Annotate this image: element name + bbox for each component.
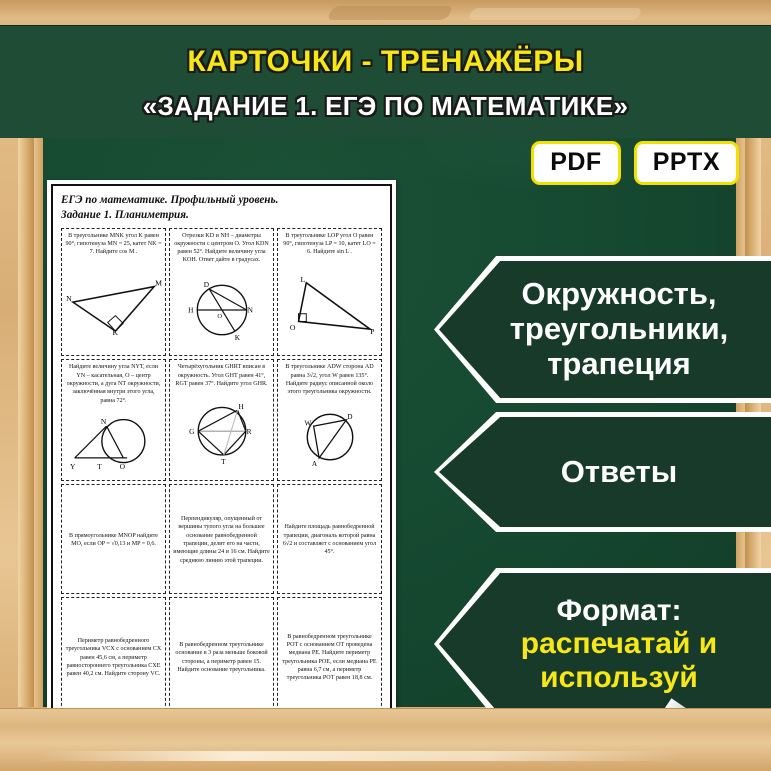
task-card[interactable]: В прямоугольнике MNOP найдите MO, если O… (61, 484, 166, 595)
task-card-text: В треугольнике LOP угол O равен 90°, гип… (281, 232, 378, 257)
svg-text:W: W (304, 419, 311, 427)
task-card[interactable]: В треугольнике LOP угол O равен 90°, гип… (277, 228, 382, 357)
svg-text:N: N (100, 417, 106, 426)
task-card[interactable]: Найдите величину угла NYT, если YN – кас… (61, 359, 166, 480)
worksheet-heading-line2: Задание 1. Планиметрия. (61, 208, 382, 223)
figure-right-triangle-lop: L O P (281, 256, 378, 354)
banner-answers-body: Ответы (439, 417, 771, 527)
banner-topics-text: Окружность, треугольники, трапеция (484, 277, 735, 381)
svg-text:K: K (234, 333, 240, 342)
format-badges: PDF PPTX (531, 141, 739, 185)
banner-answers[interactable]: Ответы (434, 412, 771, 532)
task-card-text: Найдите площадь равнобедренной трапеции,… (281, 523, 378, 556)
task-card[interactable]: Четырёхугольник GHRT вписан в окружность… (169, 359, 274, 480)
page-title-line2: «ЗАДАНИЕ 1. ЕГЭ ПО МАТЕМАТИКЕ» (0, 77, 771, 119)
page-title-line1: КАРТОЧКИ - ТРЕНАЖЁРЫ (0, 25, 771, 77)
task-card-text: В прямоугольнике MNOP найдите MO, если O… (65, 532, 162, 549)
svg-text:H: H (188, 305, 194, 314)
title-banner: КАРТОЧКИ - ТРЕНАЖЁРЫ «ЗАДАНИЕ 1. ЕГЭ ПО … (0, 25, 771, 138)
chalk-tray-highlight (38, 751, 681, 761)
task-card-text: В треугольнике ADW сторона AD равна 3√2,… (281, 363, 378, 396)
task-card-text: Периметр равнобедренного треугольника VC… (65, 637, 162, 678)
task-card[interactable]: В треугольнике MNK угол K равен 90°, гип… (61, 228, 166, 357)
svg-text:N: N (66, 295, 72, 304)
svg-text:T: T (221, 458, 226, 466)
svg-text:O: O (217, 313, 222, 320)
banner-format-text: Формат: распечатай и используй (495, 594, 723, 695)
worksheet-page: ЕГЭ по математике. Профильный уровень. З… (51, 184, 392, 724)
task-card[interactable]: Отрезки KD и NH – диаметры окружности с … (169, 228, 274, 357)
figure-circle-diameters-kdnh: D H N K O (173, 265, 270, 355)
banner-format[interactable]: Формат: распечатай и используй (434, 568, 771, 720)
svg-text:Y: Y (70, 462, 76, 471)
svg-text:D: D (203, 280, 208, 289)
svg-text:L: L (300, 275, 305, 284)
task-card[interactable]: В треугольнике ADW сторона AD равна 3√2,… (277, 359, 382, 480)
svg-text:H: H (238, 403, 244, 412)
svg-text:O: O (290, 324, 296, 333)
banner-format-line2: распечатай и (521, 627, 717, 661)
banner-format-line3: используй (521, 661, 717, 695)
banner-answers-line1: Ответы (561, 455, 677, 490)
task-card[interactable]: Перпендикуляр, опущенный от вершины тупо… (169, 484, 274, 595)
figure-right-triangle-mnk: N M K (65, 256, 162, 354)
task-card-text: В равнобедренном треугольнике POT с осно… (281, 633, 378, 683)
svg-text:M: M (155, 279, 162, 288)
banner-topics[interactable]: Окружность, треугольники, трапеция (434, 256, 771, 403)
task-card-text: Отрезки KD и NH – диаметры окружности с … (173, 232, 270, 265)
banner-topics-body: Окружность, треугольники, трапеция (439, 261, 771, 398)
wood-grain-streak-1 (326, 6, 453, 20)
banner-answers-text: Ответы (535, 455, 683, 490)
banner-topics-line1: Окружность, (510, 277, 729, 312)
badge-pdf[interactable]: PDF (531, 141, 621, 185)
worksheet-heading-line1: ЕГЭ по математике. Профильный уровень. (61, 193, 382, 208)
task-card-text: Четырёхугольник GHRT вписан в окружность… (173, 363, 270, 388)
badge-pptx[interactable]: PPTX (634, 141, 739, 185)
figure-tangent-circle-nyt: N Y T O (65, 405, 162, 479)
svg-text:A: A (311, 460, 317, 468)
task-card[interactable]: Найдите площадь равнобедренной трапеции,… (277, 484, 382, 595)
svg-text:O: O (119, 462, 125, 471)
svg-text:G: G (189, 427, 195, 436)
task-card-text: В треугольнике MNK угол K равен 90°, гип… (65, 232, 162, 257)
figure-inscribed-quad-ghrt: H G R T (173, 388, 270, 478)
wood-grain-streak-2 (467, 8, 643, 20)
svg-text:P: P (370, 327, 374, 335)
chalk-tray (0, 709, 771, 771)
worksheet-preview[interactable]: ЕГЭ по математике. Профильный уровень. З… (47, 180, 396, 728)
banner-topics-line2: треугольники, (510, 312, 729, 347)
figure-circumscribed-adw: W D A (281, 397, 378, 479)
task-card[interactable]: В равнобедренном треугольнике POT с осно… (277, 597, 382, 716)
task-card-text: Найдите величину угла NYT, если YN – кас… (65, 363, 162, 404)
banner-format-line1: Формат: (521, 594, 717, 628)
svg-text:T: T (97, 462, 102, 471)
banner-topics-line3: трапеция (510, 347, 729, 382)
task-card-text: Перпендикуляр, опущенный от вершины тупо… (173, 515, 270, 565)
task-card-text: В равнобедренном треугольнике основание … (173, 641, 270, 674)
banner-format-body: Формат: распечатай и используй (439, 573, 771, 715)
svg-text:R: R (246, 427, 251, 436)
task-card[interactable]: В равнобедренном треугольнике основание … (169, 597, 274, 716)
task-card-grid: В треугольнике MNK угол K равен 90°, гип… (61, 228, 382, 716)
svg-text:D: D (347, 412, 352, 420)
worksheet-heading: ЕГЭ по математике. Профильный уровень. З… (61, 193, 382, 223)
svg-text:N: N (247, 305, 253, 314)
task-card[interactable]: Периметр равнобедренного треугольника VC… (61, 597, 166, 716)
poster-root: КАРТОЧКИ - ТРЕНАЖЁРЫ «ЗАДАНИЕ 1. ЕГЭ ПО … (0, 0, 771, 771)
